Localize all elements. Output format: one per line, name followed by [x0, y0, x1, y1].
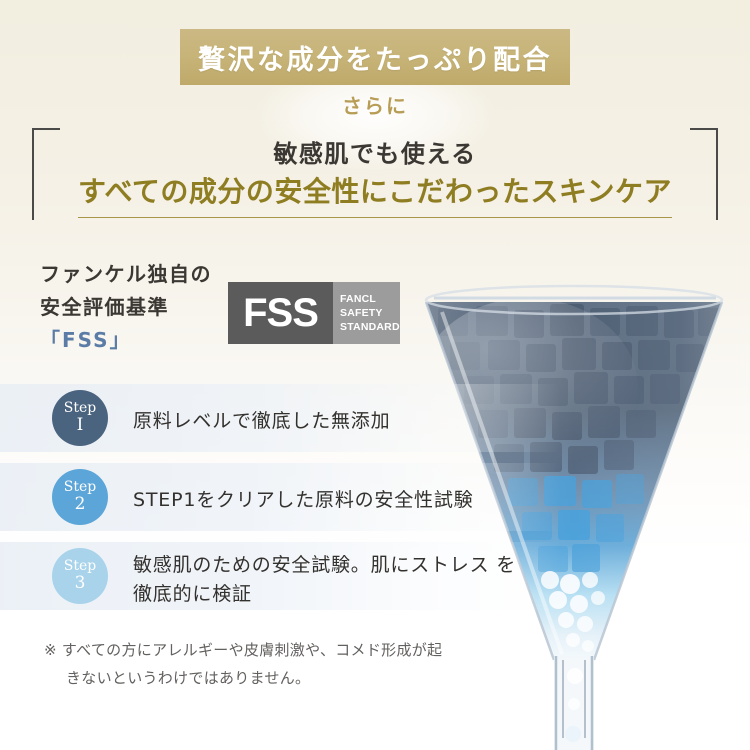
fss-logo-sub-line-3: STANDARD: [340, 320, 400, 334]
fss-text-block: ファンケル独自の 安全評価基準 「FSS」: [40, 258, 240, 357]
step-badge-1-number: I: [77, 416, 84, 435]
step-text-2: STEP1をクリアした原料の安全性試験: [133, 486, 533, 515]
headline-bracket-box: 敏感肌でも使える すべての成分の安全性にこだわったスキンケア: [32, 128, 718, 220]
step-badge-3-number: 3: [75, 574, 86, 593]
step-badge-2-number: 2: [75, 495, 86, 514]
gold-banner: 贅沢な成分をたっぷり配合: [180, 29, 570, 85]
promo-page: 贅沢な成分をたっぷり配合 さらに 敏感肌でも使える すべての成分の安全性にこだわ…: [0, 0, 750, 750]
step-text-3: 敏感肌のための安全試験。肌にストレス を徹底的に検証: [133, 551, 533, 609]
step-text-1: 原料レベルで徹底した無添加: [133, 407, 533, 436]
step-badge-1-word: Step: [64, 401, 96, 416]
fss-logo-mark-text: FSS: [243, 293, 318, 333]
fss-text-line-3: 「FSS」: [40, 324, 240, 357]
fss-text-line-1: ファンケル独自の: [40, 258, 240, 291]
fss-logo-mark-block: FSS: [228, 282, 333, 344]
fss-logo-sub-line-1: FANCL: [340, 292, 400, 306]
footnote-line-1: ※ すべての方にアレルギーや皮膚刺激や、コメド形成が起: [44, 641, 442, 659]
fss-text-line-2: 安全評価基準: [40, 291, 240, 324]
footnote-line-2: きないというわけではありません。: [44, 664, 514, 692]
headline-line-1: 敏感肌でも使える: [32, 134, 718, 169]
headline-line-2: すべての成分の安全性にこだわったスキンケア: [78, 170, 672, 218]
fss-logo-sub-block: FANCL SAFETY STANDARD: [333, 282, 400, 344]
footnote: ※ すべての方にアレルギーや皮膚刺激や、コメド形成が起 きないというわけではあり…: [44, 636, 514, 692]
step-badge-2-word: Step: [64, 480, 96, 495]
fss-logo: FSS FANCL SAFETY STANDARD: [228, 282, 400, 344]
banner-headline: 贅沢な成分をたっぷり配合: [198, 38, 552, 77]
fss-logo-sub-line-2: SAFETY: [340, 306, 400, 320]
step-badge-3: Step 3: [52, 548, 108, 604]
step-badge-3-word: Step: [64, 559, 96, 574]
step-badge-2: Step 2: [52, 469, 108, 525]
step-badge-1: Step I: [52, 390, 108, 446]
headline-line-2-wrap: すべての成分の安全性にこだわったスキンケア: [32, 170, 718, 218]
connector-text: さらに: [0, 90, 750, 119]
step-text-3-line-1: 敏感肌のための安全試験。肌にストレス: [133, 554, 489, 576]
